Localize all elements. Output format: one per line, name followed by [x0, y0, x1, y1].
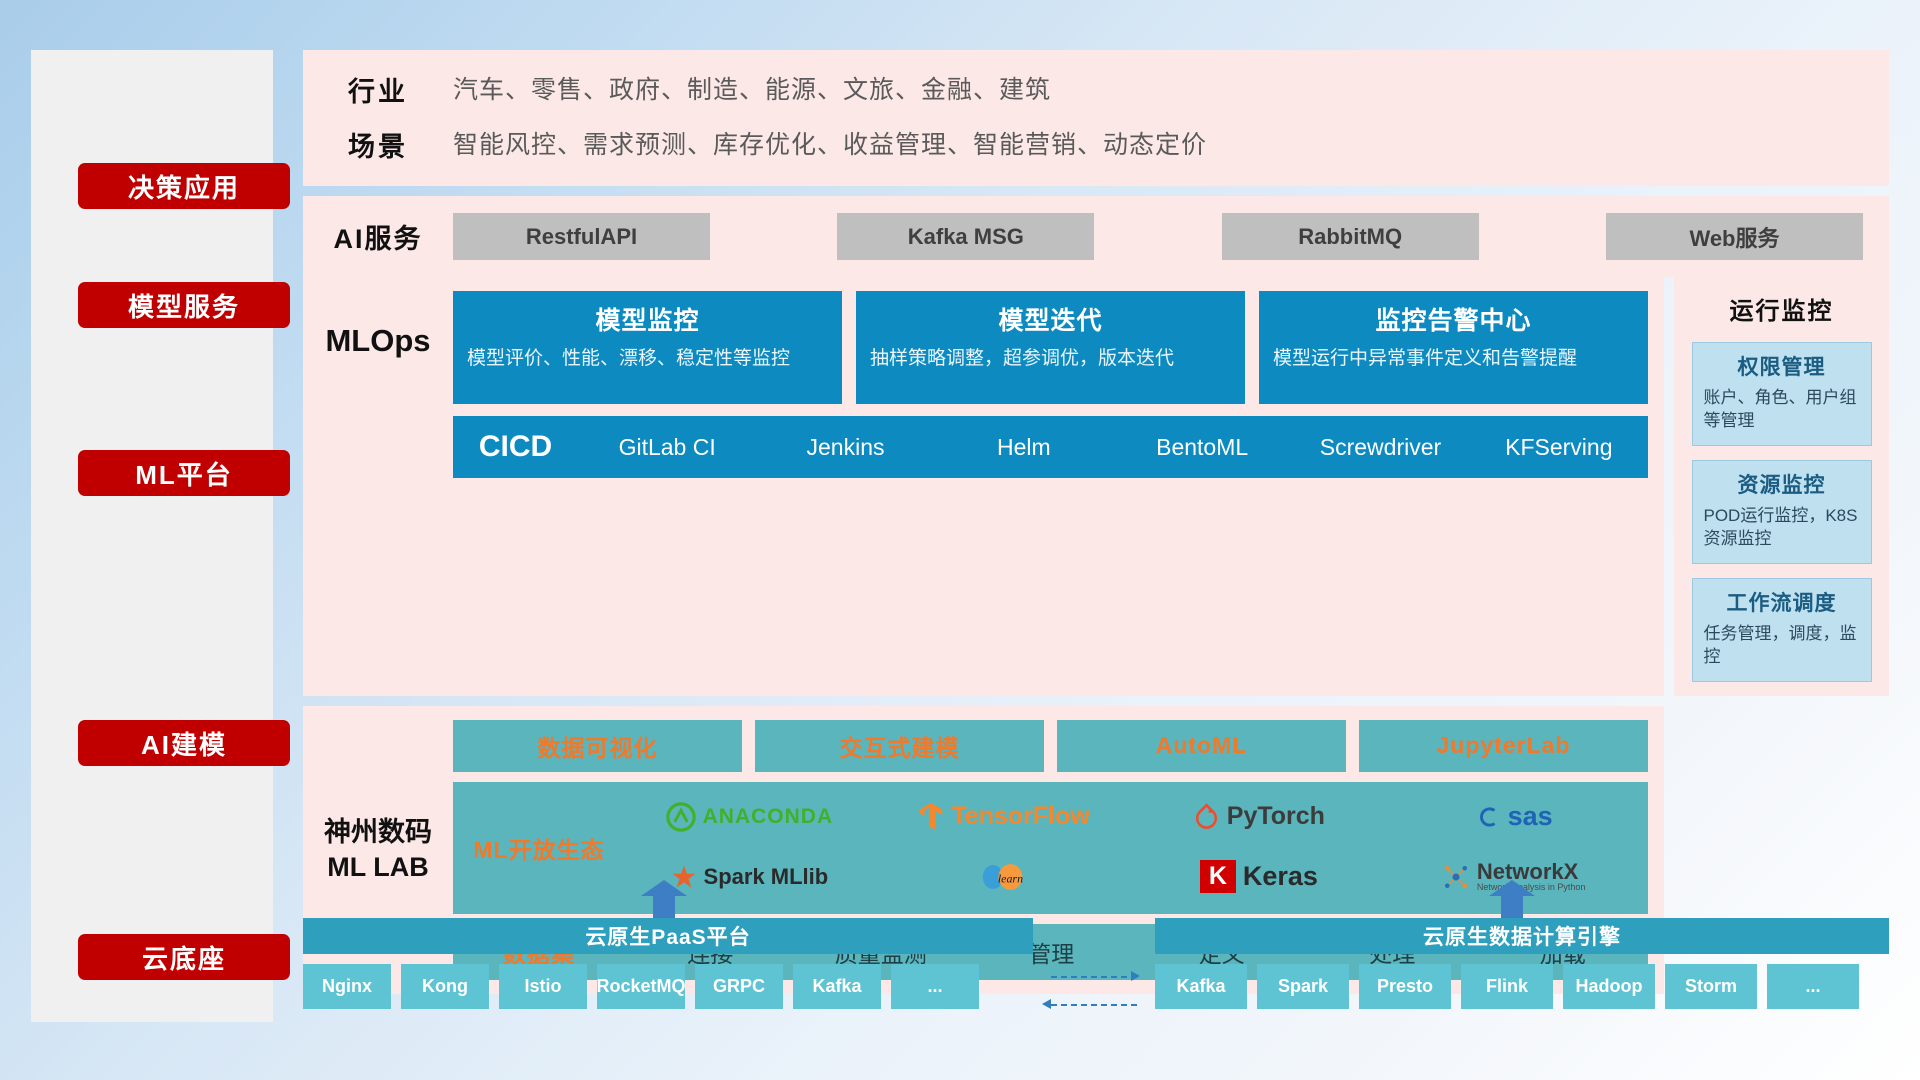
- industry-row: 行业 汽车、零售、政府、制造、能源、文旅、金融、建筑: [303, 70, 1889, 109]
- paas-tile-more[interactable]: ...: [891, 964, 979, 1009]
- paas-tile-rocketmq[interactable]: RocketMQ: [597, 964, 685, 1009]
- ml-lab-tab-jupyterlab[interactable]: JupyterLab: [1359, 720, 1648, 772]
- logo-label: ANACONDA: [703, 805, 834, 829]
- stage-chip-model-service[interactable]: 模型服务: [78, 282, 290, 328]
- industry-label: 行业: [303, 70, 453, 109]
- ml-lab-tab-data-visualization[interactable]: 数据可视化: [453, 720, 742, 772]
- ai-service-chip-web-service[interactable]: Web服务: [1606, 213, 1863, 260]
- ml-lab-tab-automl[interactable]: AutoML: [1057, 720, 1346, 772]
- card-title: 模型监控: [467, 301, 828, 337]
- card-desc: 模型评价、性能、漂移、稳定性等监控: [467, 346, 828, 371]
- model-service-band: AI服务 RestfulAPI Kafka MSG RabbitMQ Web服务: [303, 196, 1889, 277]
- chip-label: Kafka MSG: [908, 224, 1024, 250]
- card-title: 监控告警中心: [1273, 301, 1634, 337]
- engine-tile-hadoop[interactable]: Hadoop: [1563, 964, 1655, 1009]
- stage-chip-ai-modeling[interactable]: AI建模: [78, 720, 290, 766]
- runtime-monitoring-column: 运行监控 权限管理 账户、角色、用户组等管理 资源监控 POD运行监控，K8S资…: [1674, 277, 1889, 696]
- engine-tile-presto[interactable]: Presto: [1359, 964, 1451, 1009]
- stage-chip-label: 云底座: [142, 939, 226, 976]
- ml-lab-tab-interactive-modeling[interactable]: 交互式建模: [755, 720, 1044, 772]
- stage-chip-ml-platform[interactable]: ML平台: [78, 450, 290, 496]
- stage-chip-decision-app[interactable]: 决策应用: [78, 163, 290, 209]
- mlops-card-model-monitoring[interactable]: 模型监控 模型评价、性能、漂移、稳定性等监控: [453, 291, 842, 404]
- tensorflow-icon: [918, 802, 944, 832]
- engine-tile-kafka[interactable]: Kafka: [1155, 964, 1247, 1009]
- cloud-base-band: 云原生PaaS平台 云原生数据计算引擎 Nginx Kong Istio Roc…: [303, 880, 1889, 1022]
- logo-label: sas: [1508, 801, 1553, 832]
- paas-tile-istio[interactable]: Istio: [499, 964, 587, 1009]
- ml-platform-band: MLOps 模型监控 模型评价、性能、漂移、稳定性等监控 模型迭代 抽样策略调整…: [303, 277, 1889, 696]
- cicd-item-gitlab-ci[interactable]: GitLab CI: [578, 435, 756, 459]
- logo-label: PyTorch: [1227, 802, 1325, 831]
- card-desc: 抽样策略调整，超参调优，版本迭代: [870, 346, 1231, 371]
- cicd-item-helm[interactable]: Helm: [935, 435, 1113, 459]
- card-desc: 账户、角色、用户组等管理: [1704, 387, 1860, 433]
- layer-stack: 行业 汽车、零售、政府、制造、能源、文旅、金融、建筑 场景 智能风控、需求预测、…: [303, 50, 1889, 994]
- scenario-row: 场景 智能风控、需求预测、库存优化、收益管理、智能营销、动态定价: [303, 125, 1889, 164]
- card-desc: 任务管理，调度，监控: [1704, 623, 1860, 669]
- stage-chip-cloud-base[interactable]: 云底座: [78, 934, 290, 980]
- scenario-label: 场景: [303, 125, 453, 164]
- data-compute-engine-header[interactable]: 云原生数据计算引擎: [1155, 918, 1889, 954]
- industry-values: 汽车、零售、政府、制造、能源、文旅、金融、建筑: [453, 70, 1051, 106]
- cicd-item-kfserving[interactable]: KFServing: [1470, 435, 1648, 459]
- card-title: 资源监控: [1704, 469, 1860, 499]
- ai-service-chip-kafka-msg[interactable]: Kafka MSG: [837, 213, 1094, 260]
- paas-tile-kafka[interactable]: Kafka: [793, 964, 881, 1009]
- cicd-item-bentoml[interactable]: BentoML: [1113, 435, 1291, 459]
- stage-chip-label: ML平台: [135, 455, 233, 492]
- monitor-card-workflow[interactable]: 工作流调度 任务管理，调度，监控: [1692, 578, 1872, 682]
- card-title: 模型迭代: [870, 301, 1231, 337]
- ai-service-chip-restfulapi[interactable]: RestfulAPI: [453, 213, 710, 260]
- ml-lab-label-line2: ML LAB: [327, 852, 429, 882]
- monitor-card-permission[interactable]: 权限管理 账户、角色、用户组等管理: [1692, 342, 1872, 446]
- stage-rail: 决策应用 模型服务 ML平台 AI建模: [31, 50, 273, 1022]
- chip-label: Web服务: [1689, 221, 1779, 253]
- paas-tile-row: Nginx Kong Istio RocketMQ GRPC Kafka ...: [303, 964, 979, 1009]
- engine-tile-more[interactable]: ...: [1767, 964, 1859, 1009]
- cicd-row: CICD GitLab CI Jenkins Helm BentoML Scre…: [453, 416, 1648, 478]
- engine-tile-row: Kafka Spark Presto Flink Hadoop Storm ..…: [1155, 964, 1859, 1009]
- logo-tensorflow: TensorFlow: [880, 788, 1129, 846]
- mlops-area: MLOps 模型监控 模型评价、性能、漂移、稳定性等监控 模型迭代 抽样策略调整…: [303, 277, 1664, 696]
- card-desc: POD运行监控，K8S资源监控: [1704, 505, 1860, 551]
- ml-lab-label-line1: 神州数码: [324, 817, 432, 847]
- ai-service-chip-rabbitmq[interactable]: RabbitMQ: [1222, 213, 1479, 260]
- cicd-label: CICD: [453, 430, 578, 464]
- logo-anaconda: ANACONDA: [625, 788, 874, 846]
- decision-app-band: 行业 汽车、零售、政府、制造、能源、文旅、金融、建筑 场景 智能风控、需求预测、…: [303, 50, 1889, 186]
- chip-label: RestfulAPI: [526, 224, 637, 250]
- engine-tile-flink[interactable]: Flink: [1461, 964, 1553, 1009]
- card-title: 权限管理: [1704, 351, 1860, 381]
- mlops-card-model-iteration[interactable]: 模型迭代 抽样策略调整，超参调优，版本迭代: [856, 291, 1245, 404]
- runtime-monitoring-title: 运行监控: [1730, 291, 1834, 326]
- logo-pytorch: PyTorch: [1135, 788, 1384, 846]
- stage-chip-label: 决策应用: [128, 168, 240, 205]
- ml-lab-tab-row: 数据可视化 交互式建模 AutoML JupyterLab: [453, 720, 1648, 772]
- sas-icon: [1475, 804, 1501, 830]
- chip-label: RabbitMQ: [1298, 224, 1402, 250]
- cicd-item-jenkins[interactable]: Jenkins: [756, 435, 934, 459]
- stage-chip-label: AI建模: [141, 725, 227, 762]
- architecture-diagram: 决策应用 模型服务 ML平台 AI建模 云底座 行业 汽车、零售、政府、制造、能…: [0, 0, 1920, 1080]
- paas-tile-nginx[interactable]: Nginx: [303, 964, 391, 1009]
- mlops-cards-row: MLOps 模型监控 模型评价、性能、漂移、稳定性等监控 模型迭代 抽样策略调整…: [303, 277, 1664, 404]
- ai-service-label: AI服务: [303, 217, 453, 256]
- pytorch-icon: [1193, 802, 1220, 832]
- scenario-values: 智能风控、需求预测、库存优化、收益管理、智能营销、动态定价: [453, 125, 1207, 161]
- anaconda-icon: [666, 802, 696, 832]
- paas-platform-header[interactable]: 云原生PaaS平台: [303, 918, 1033, 954]
- paas-tile-grpc[interactable]: GRPC: [695, 964, 783, 1009]
- monitor-card-resource[interactable]: 资源监控 POD运行监控，K8S资源监控: [1692, 460, 1872, 564]
- paas-tile-kong[interactable]: Kong: [401, 964, 489, 1009]
- ai-service-chip-row: RestfulAPI Kafka MSG RabbitMQ Web服务: [453, 213, 1889, 260]
- card-title: 工作流调度: [1704, 587, 1860, 617]
- engine-tile-storm[interactable]: Storm: [1665, 964, 1757, 1009]
- logo-label: TensorFlow: [951, 802, 1089, 831]
- card-desc: 模型运行中异常事件定义和告警提醒: [1273, 346, 1634, 371]
- engine-tile-spark[interactable]: Spark: [1257, 964, 1349, 1009]
- stage-chip-label: 模型服务: [128, 287, 240, 324]
- mlops-label: MLOps: [303, 277, 453, 404]
- mlops-card-alert-center[interactable]: 监控告警中心 模型运行中异常事件定义和告警提醒: [1259, 291, 1648, 404]
- logo-sas: sas: [1389, 788, 1638, 846]
- bidirectional-connector: [1045, 966, 1145, 1016]
- cicd-item-screwdriver[interactable]: Screwdriver: [1291, 435, 1469, 459]
